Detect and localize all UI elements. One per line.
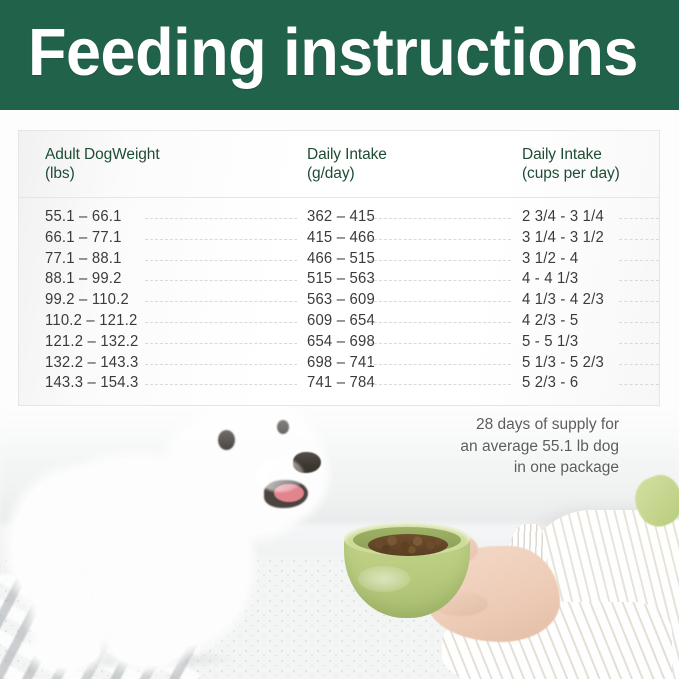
dog-muzzle-hair (256, 458, 304, 492)
leader-dots (619, 384, 659, 385)
cell-grams: 563 – 609 (307, 290, 375, 311)
cell-grams: 698 – 741 (307, 353, 375, 374)
leader-dots (145, 301, 297, 302)
supply-caption: 28 days of supply for an average 55.1 lb… (319, 414, 619, 479)
cell-grams: 654 – 698 (307, 332, 375, 353)
cell-grams: 609 – 654 (307, 311, 375, 332)
leader-dots (369, 280, 511, 281)
dog-eye-right (277, 420, 289, 434)
leader-dots (145, 218, 297, 219)
cell-weight: 143.3 – 154.3 (45, 373, 139, 394)
bowl-highlight (358, 566, 410, 592)
leader-dots (619, 260, 659, 261)
leader-dots (369, 343, 511, 344)
table-row: 66.1 – 77.1 415 – 466 3 1/4 - 3 1/2 (19, 228, 659, 249)
cell-weight: 99.2 – 110.2 (45, 290, 129, 311)
cell-weight: 88.1 – 99.2 (45, 269, 122, 290)
leader-dots (145, 322, 297, 323)
table-row: 55.1 – 66.1 362 – 415 2 3/4 - 3 1/4 (19, 207, 659, 228)
leader-dots (369, 239, 511, 240)
leader-dots (145, 239, 297, 240)
leader-dots (145, 260, 297, 261)
leader-dots (619, 239, 659, 240)
column-header-weight: Adult DogWeight (lbs) (45, 145, 160, 183)
cell-cups: 4 2/3 - 5 (522, 311, 578, 332)
table-row: 77.1 – 88.1 466 – 515 3 1/2 - 4 (19, 249, 659, 270)
table-row: 88.1 – 99.2 515 – 563 4 - 4 1/3 (19, 269, 659, 290)
leader-dots (619, 218, 659, 219)
leader-dots (619, 343, 659, 344)
feeding-instructions-page: Feeding instructions Adult DogWeight (lb… (0, 0, 679, 679)
leader-dots (369, 384, 511, 385)
leader-dots (369, 301, 511, 302)
leader-dots (619, 322, 659, 323)
leader-dots (145, 384, 297, 385)
kibble (368, 534, 448, 556)
cell-cups: 2 3/4 - 3 1/4 (522, 207, 604, 228)
leader-dots (145, 343, 297, 344)
leader-dots (145, 364, 297, 365)
cell-weight: 66.1 – 77.1 (45, 228, 122, 249)
table-row: 143.3 – 154.3 741 – 784 5 2/3 - 6 (19, 373, 659, 394)
cell-cups: 5 2/3 - 6 (522, 373, 578, 394)
cell-grams: 515 – 563 (307, 269, 375, 290)
leader-dots (369, 364, 511, 365)
dog-paw-left (34, 634, 100, 668)
leader-dots (369, 322, 511, 323)
cell-weight: 121.2 – 132.2 (45, 332, 139, 353)
leader-dots (619, 301, 659, 302)
table-body: 55.1 – 66.1 362 – 415 2 3/4 - 3 1/4 66.1… (19, 207, 659, 406)
header-banner: Feeding instructions (0, 0, 679, 110)
cell-grams: 362 – 415 (307, 207, 375, 228)
cell-grams: 415 – 466 (307, 228, 375, 249)
dog-eye-left (218, 430, 235, 450)
cell-cups: 5 1/3 - 5 2/3 (522, 353, 604, 374)
leader-dots (619, 280, 659, 281)
leader-dots (369, 260, 511, 261)
table-header-row: Adult DogWeight (lbs) Daily Intake (g/da… (19, 131, 659, 198)
cell-grams: 741 – 784 (307, 373, 375, 394)
leader-dots (145, 280, 297, 281)
cell-cups: 4 - 4 1/3 (522, 269, 578, 290)
cell-cups: 4 1/3 - 4 2/3 (522, 290, 604, 311)
table-row: 121.2 – 132.2 654 – 698 5 - 5 1/3 (19, 332, 659, 353)
cell-cups: 3 1/4 - 3 1/2 (522, 228, 604, 249)
cell-grams: 466 – 515 (307, 249, 375, 270)
cell-weight: 110.2 – 121.2 (45, 311, 137, 332)
leader-dots (619, 364, 659, 365)
column-header-grams: Daily Intake (g/day) (307, 145, 387, 183)
table-row: 99.2 – 110.2 563 – 609 4 1/3 - 4 2/3 (19, 290, 659, 311)
table-row: 110.2 – 121.2 609 – 654 4 2/3 - 5 (19, 311, 659, 332)
food-bowl (344, 522, 470, 620)
cell-cups: 3 1/2 - 4 (522, 249, 578, 270)
cell-cups: 5 - 5 1/3 (522, 332, 578, 353)
cell-weight: 132.2 – 143.3 (45, 353, 139, 374)
dog-illustration (12, 406, 342, 679)
page-title: Feeding instructions (28, 13, 638, 93)
table-row: 132.2 – 143.3 698 – 741 5 1/3 - 5 2/3 (19, 353, 659, 374)
column-header-cups: Daily Intake (cups per day) (522, 145, 620, 183)
cell-weight: 77.1 – 88.1 (45, 249, 122, 270)
leader-dots (369, 218, 511, 219)
cell-weight: 55.1 – 66.1 (45, 207, 122, 228)
feeding-table: Adult DogWeight (lbs) Daily Intake (g/da… (18, 130, 660, 406)
